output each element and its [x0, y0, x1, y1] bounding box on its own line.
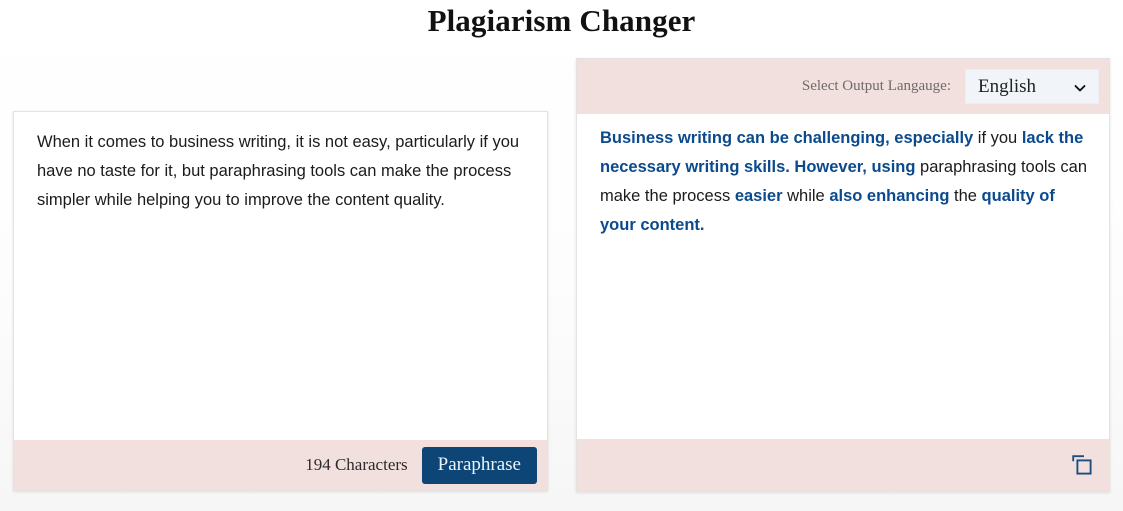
- source-text-content[interactable]: When it comes to business writing, it is…: [14, 112, 547, 440]
- source-text-panel: When it comes to business writing, it is…: [13, 111, 548, 491]
- highlighted-segment: also enhancing: [829, 187, 949, 205]
- paraphrase-button[interactable]: Paraphrase: [422, 447, 537, 484]
- highlighted-segment: easier: [735, 187, 783, 205]
- paraphrased-text-content[interactable]: Business writing can be challenging, esp…: [577, 114, 1109, 439]
- copy-icon[interactable]: [1071, 454, 1093, 476]
- plain-segment: while: [783, 187, 830, 205]
- output-panel-footer: [577, 439, 1109, 491]
- source-panel-footer: 194 Characters Paraphrase: [14, 440, 547, 490]
- page-title: Plagiarism Changer: [0, 2, 1123, 40]
- output-language-selected-value: English: [966, 76, 1036, 98]
- plagiarism-changer-app: Plagiarism Changer When it comes to busi…: [0, 0, 1123, 511]
- output-language-bar: Select Output Langauge: English: [577, 59, 1109, 114]
- plain-segment: the: [949, 187, 981, 205]
- output-language-label: Select Output Langauge:: [802, 78, 951, 95]
- output-language-select[interactable]: English: [965, 69, 1099, 104]
- highlighted-segment: Business writing can be challenging, esp…: [600, 129, 973, 147]
- paraphrased-text-panel: Select Output Langauge: English Business…: [576, 58, 1110, 492]
- plain-segment: if you: [973, 129, 1022, 147]
- chevron-down-icon: [1074, 81, 1086, 93]
- character-count: 194 Characters: [305, 455, 407, 475]
